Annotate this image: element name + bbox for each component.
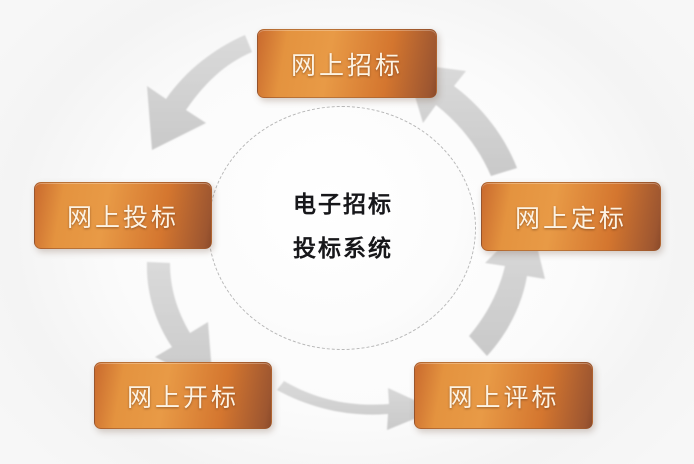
node-left-label: 网上投标 bbox=[67, 198, 179, 234]
node-left[interactable]: 网上投标 bbox=[34, 182, 212, 249]
node-bottom-right[interactable]: 网上评标 bbox=[414, 362, 593, 429]
node-bottom-right-label: 网上评标 bbox=[447, 378, 559, 414]
center-label-line-1: 电子招标 bbox=[223, 183, 463, 227]
center-label-line-2: 投标系统 bbox=[223, 227, 463, 271]
arrow-top-to-left bbox=[147, 35, 252, 150]
arrow-bottom-left-to-bottom-right bbox=[277, 381, 436, 430]
cycle-diagram: 电子招标 投标系统 网上招标 网上定标 网上投标 网上开标 网上评标 bbox=[0, 0, 694, 464]
node-bottom-left-label: 网上开标 bbox=[127, 378, 239, 414]
node-top[interactable]: 网上招标 bbox=[257, 29, 437, 98]
node-right-label: 网上定标 bbox=[515, 199, 627, 235]
node-bottom-left[interactable]: 网上开标 bbox=[94, 362, 272, 429]
node-right[interactable]: 网上定标 bbox=[481, 182, 661, 251]
node-top-label: 网上招标 bbox=[291, 46, 403, 82]
center-label: 电子招标 投标系统 bbox=[223, 183, 463, 271]
